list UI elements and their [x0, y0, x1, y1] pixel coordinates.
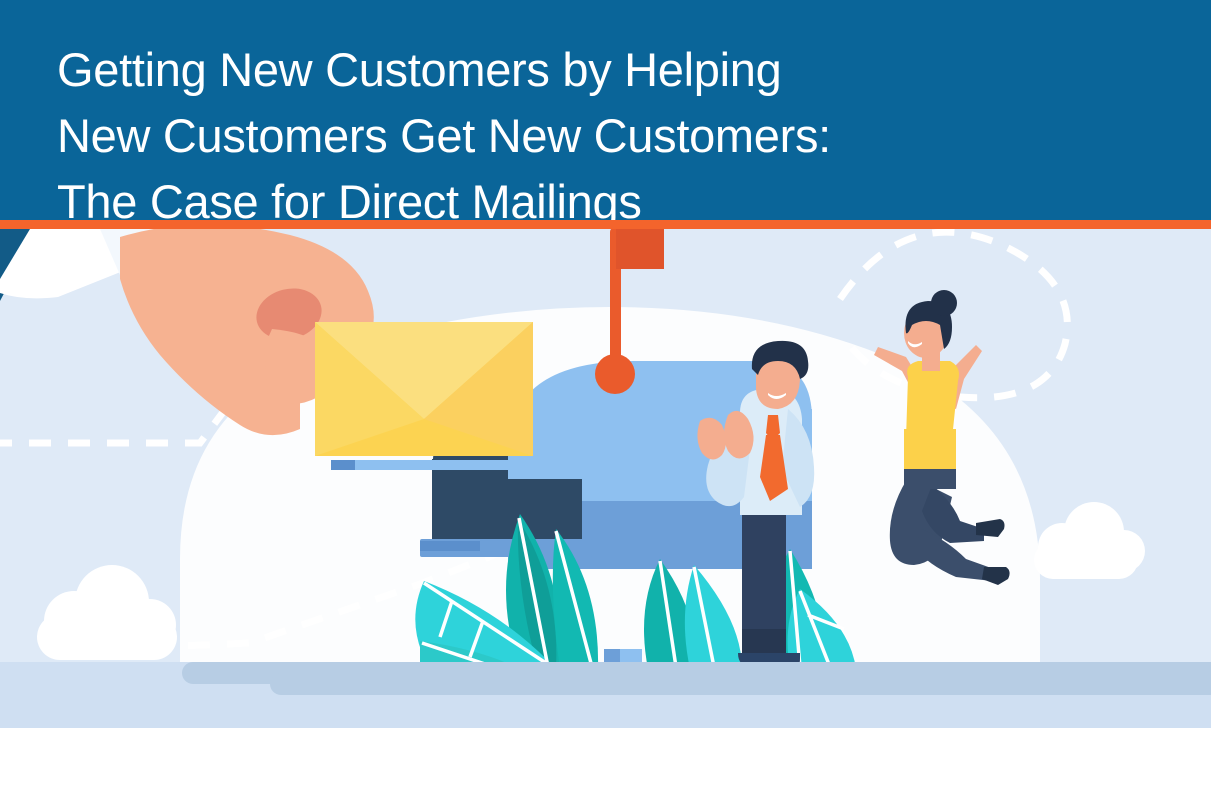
- mailbox-illustration-svg: [0, 229, 1211, 728]
- mailbox-flag-knob: [595, 354, 635, 394]
- article-hero-page: Getting New Customers by Helping New Cus…: [0, 0, 1211, 800]
- man-trousers-cuff: [742, 629, 786, 657]
- page-title: Getting New Customers by Helping New Cus…: [57, 37, 1057, 235]
- mailbox-interior-lower: [432, 479, 582, 539]
- woman-hair-bun: [931, 290, 957, 316]
- accent-divider: [0, 220, 1211, 229]
- mailbox-flag: [616, 229, 664, 269]
- hero-illustration: [0, 229, 1211, 728]
- header-band: Getting New Customers by Helping New Cus…: [0, 0, 1211, 220]
- woman-waistband: [904, 469, 956, 489]
- ground-shadow-near: [270, 673, 1211, 695]
- envelope-shadow-bar-accent: [331, 460, 355, 470]
- mailbox-base-shade: [420, 541, 480, 551]
- envelope-shadow-bar: [331, 460, 529, 470]
- article-body-area: [0, 728, 1211, 800]
